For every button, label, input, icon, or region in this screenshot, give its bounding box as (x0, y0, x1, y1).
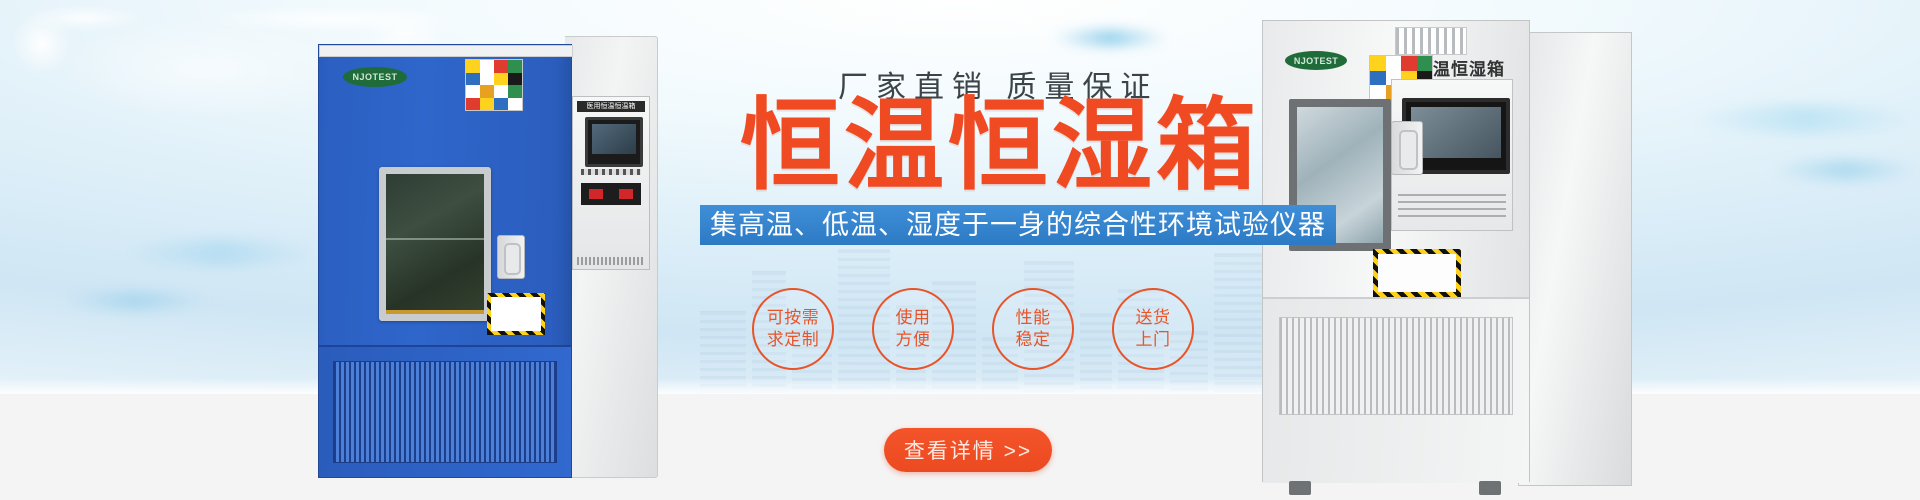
feature-badge-4[interactable]: 送货上门 (1112, 288, 1194, 370)
feature-badge-line2: 方便 (896, 329, 931, 351)
banner-copy: 厂家直销 质量保证 恒温恒湿箱 集高温、低温、湿度于一身的综合性环境试验仪器 可… (0, 0, 1920, 500)
feature-badge-list: 可按需求定制使用方便性能稳定送货上门 (752, 288, 1194, 370)
feature-badge-line1: 送货 (1136, 307, 1171, 329)
feature-badge-2[interactable]: 使用方便 (872, 288, 954, 370)
view-details-button[interactable]: 查看详情 >> (884, 428, 1052, 472)
feature-badge-1[interactable]: 可按需求定制 (752, 288, 834, 370)
banner-headline: 恒温恒湿箱 (740, 96, 1260, 196)
banner-subtitle: 集高温、低温、湿度于一身的综合性环境试验仪器 (700, 205, 1336, 245)
feature-badge-line1: 性能 (1016, 307, 1051, 329)
promo-banner: NJOTEST 医用恒温恒温箱 NJOTEST (0, 0, 1920, 500)
feature-badge-line1: 使用 (896, 307, 931, 329)
feature-badge-3[interactable]: 性能稳定 (992, 288, 1074, 370)
feature-badge-line2: 上门 (1136, 329, 1171, 351)
feature-badge-line2: 求定制 (767, 329, 820, 351)
feature-badge-line1: 可按需 (767, 307, 820, 329)
feature-badge-line2: 稳定 (1016, 329, 1051, 351)
